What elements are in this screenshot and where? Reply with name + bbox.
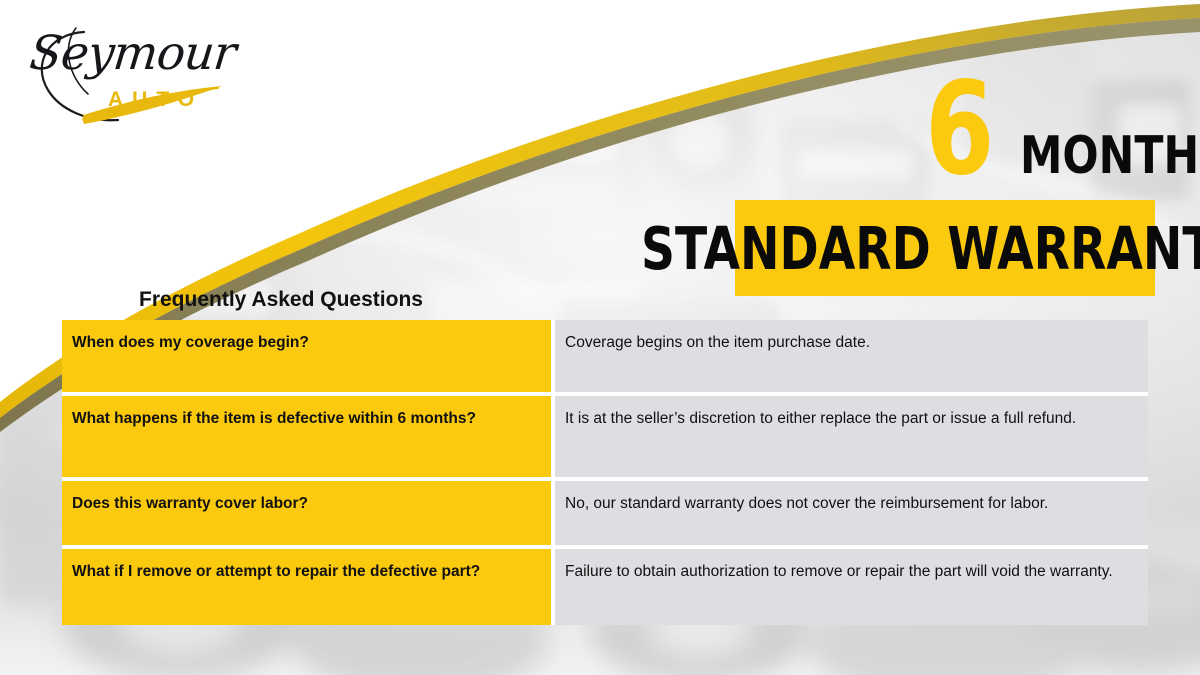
table-row: When does my coverage begin? Coverage be… (62, 320, 1148, 396)
faq-question: When does my coverage begin? (62, 320, 555, 396)
faq-answer: Failure to obtain authorization to remov… (555, 549, 1148, 625)
table-row: What happens if the item is defective wi… (62, 396, 1148, 481)
faq-question: What if I remove or attempt to repair th… (62, 549, 555, 625)
warranty-banner-title: STANDARD WARRANTY (641, 219, 1200, 278)
warranty-slide: Seymour AUTO 6 MONTH STANDARD WARRANTY F… (0, 0, 1200, 675)
faq-answer: No, our standard warranty does not cover… (555, 481, 1148, 549)
table-row: Does this warranty cover labor? No, our … (62, 481, 1148, 549)
duration-unit: MONTH (1020, 130, 1199, 182)
faq-table: When does my coverage begin? Coverage be… (62, 320, 1148, 625)
faq-question: Does this warranty cover labor? (62, 481, 555, 549)
logo-auto-text: AUTO (108, 88, 203, 112)
faq-heading: Frequently Asked Questions (139, 288, 423, 312)
logo-script-text: Seymour (27, 26, 238, 81)
faq-table-body: When does my coverage begin? Coverage be… (62, 320, 1148, 625)
seymour-auto-logo: Seymour AUTO (22, 20, 232, 132)
faq-answer: It is at the seller’s discretion to eith… (555, 396, 1148, 481)
table-row: What if I remove or attempt to repair th… (62, 549, 1148, 625)
duration-headline: 6 MONTH (915, 78, 1165, 188)
standard-warranty-banner: STANDARD WARRANTY (735, 200, 1155, 296)
duration-number: 6 (925, 66, 993, 194)
faq-question: What happens if the item is defective wi… (62, 396, 555, 481)
faq-answer: Coverage begins on the item purchase dat… (555, 320, 1148, 396)
